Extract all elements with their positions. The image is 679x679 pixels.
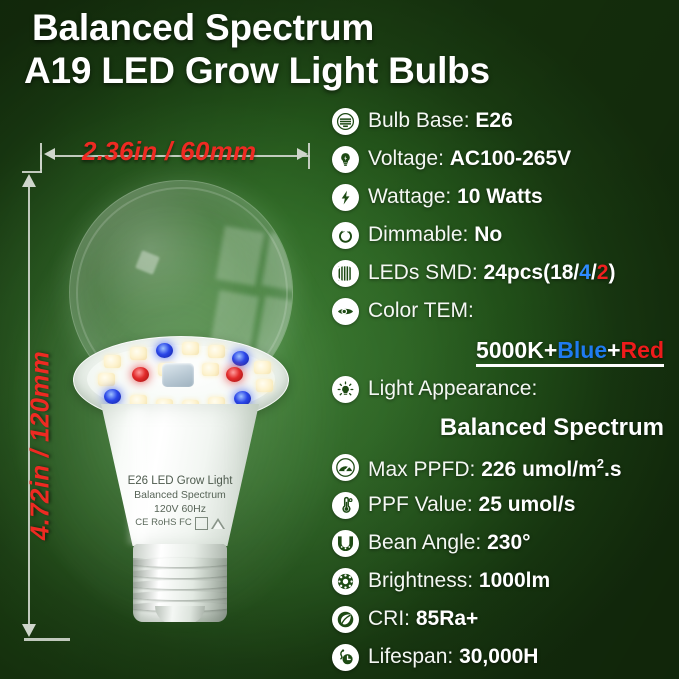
led-white	[104, 355, 121, 368]
spec-text-brightness: Brightness: 1000lm	[368, 568, 550, 594]
leds-total-prefix: 24pcs(18/	[484, 261, 580, 284]
spec-value-bean-angle: 230°	[487, 531, 530, 554]
base-thread	[133, 591, 227, 600]
spec-row-voltage: Voltage: AC100-265V	[332, 140, 676, 178]
spec-value-wattage: 10 Watts	[457, 185, 543, 208]
spec-label-light-appearance: Light Appearance:	[368, 377, 537, 400]
led-strip-icon	[332, 260, 359, 287]
spec-label-leds-smd: LEDs SMD:	[368, 261, 478, 284]
recycle-triangle-icon	[211, 518, 225, 529]
spec-text-lifespan: Lifespan: 30,000H	[368, 644, 538, 670]
page-title: Balanced Spectrum A19 LED Grow Light Bul…	[32, 6, 652, 92]
spec-label-bean-angle: Bean Angle:	[368, 531, 481, 554]
spec-value-lifespan: 30,000H	[459, 645, 538, 668]
spec-value-ppf-value: 25 umol/s	[479, 493, 576, 516]
spec-row-light-appearance: Light Appearance:	[332, 370, 676, 408]
spec-label-dimmable: Dimmable:	[368, 223, 468, 246]
led-white	[182, 342, 199, 355]
specification-list: Bulb Base: E26 Voltage: AC100-265V	[332, 102, 676, 676]
product-infographic: Balanced Spectrum A19 LED Grow Light Bul…	[0, 0, 679, 679]
bulb-base-icon	[332, 108, 359, 135]
spec-text-wattage: Wattage: 10 Watts	[368, 184, 543, 210]
led-white	[202, 363, 219, 376]
spec-row-cri: CRI: 85Ra+	[332, 600, 676, 638]
color-tem-plus-1: +	[544, 337, 557, 367]
spec-row-wattage: Wattage: 10 Watts	[332, 178, 676, 216]
wheelie-bin-icon	[195, 517, 208, 530]
spec-text-voltage: Voltage: AC100-265V	[368, 146, 571, 172]
title-line-2: A19 LED Grow Light Bulbs	[24, 49, 652, 92]
led-blue	[104, 389, 121, 404]
spec-label-cri: CRI:	[368, 607, 410, 630]
spec-value-leds-smd: 24pcs(18/4/2)	[484, 261, 616, 284]
eye-icon	[332, 298, 359, 325]
light-appearance-value-row: Balanced Spectrum	[332, 408, 676, 448]
voltage-bulb-icon	[332, 146, 359, 173]
spec-row-color-tem: Color TEM:	[332, 292, 676, 330]
width-arrow-left-icon	[44, 148, 55, 160]
spec-label-color-tem: Color TEM:	[368, 299, 474, 322]
base-thread	[133, 558, 227, 567]
gauge-icon	[332, 454, 359, 481]
height-dimension-label: 4.72in / 120mm	[25, 336, 56, 556]
base-thread	[133, 569, 227, 578]
spec-text-dimmable: Dimmable: No	[368, 222, 502, 248]
base-thread	[133, 580, 227, 589]
bulb-printed-label: E26 LED Grow Light Balanced Spectrum 120…	[103, 474, 257, 530]
led-white	[98, 373, 115, 386]
spec-row-bulb-base: Bulb Base: E26	[332, 102, 676, 140]
title-line-1: Balanced Spectrum	[32, 6, 652, 49]
spec-row-ppf-value: PPF Value: 25 umol/s	[332, 486, 676, 524]
spec-value-brightness: 1000lm	[479, 569, 550, 592]
thermometer-icon	[332, 492, 359, 519]
spec-row-brightness: Brightness: 1000lm	[332, 562, 676, 600]
led-red	[132, 367, 149, 382]
spec-row-max-ppfd: Max PPFD: 226 umol/m2.s	[332, 448, 676, 486]
spec-label-lifespan: Lifespan:	[368, 645, 453, 668]
leds-suffix: )	[608, 261, 615, 284]
spec-text-leds-smd: LEDs SMD: 24pcs(18/4/2)	[368, 260, 615, 286]
spec-label-ppf-value: PPF Value:	[368, 493, 473, 516]
spec-value-voltage: AC100-265V	[450, 147, 571, 170]
spec-value-max-ppfd: 226 umol/m2.s	[481, 458, 621, 481]
spec-text-bean-angle: Bean Angle: 230°	[368, 530, 531, 556]
spec-text-ppf-value: PPF Value: 25 umol/s	[368, 492, 575, 518]
bulb-label-line-2: Balanced Spectrum	[103, 489, 257, 503]
light-appearance-value: Balanced Spectrum	[440, 414, 664, 442]
spec-text-color-tem: Color TEM:	[368, 298, 474, 324]
certification-marks-text: CE RoHS FC	[135, 517, 191, 530]
lightning-bolt-icon	[332, 184, 359, 211]
dimmable-circle-icon	[332, 222, 359, 249]
spec-value-bulb-base: E26	[475, 109, 512, 132]
spec-row-dimmable: Dimmable: No	[332, 216, 676, 254]
height-arrow-top-icon	[22, 174, 36, 187]
color-tem-value-row: 5000K+Blue+Red	[332, 330, 676, 370]
led-center-hub	[162, 363, 194, 387]
height-guide-cap-bottom	[24, 638, 70, 641]
leaf-icon	[332, 606, 359, 633]
led-blue	[232, 351, 249, 366]
spec-text-light-appearance: Light Appearance:	[368, 376, 537, 402]
light-appearance-icon	[332, 376, 359, 403]
spec-row-bean-angle: Bean Angle: 230°	[332, 524, 676, 562]
spec-text-bulb-base: Bulb Base: E26	[368, 108, 513, 134]
led-white	[208, 345, 225, 358]
leds-blue-count: 4	[579, 261, 591, 284]
spec-value-cri: 85Ra+	[416, 607, 478, 630]
bulb-label-line-4: CE RoHS FC	[103, 517, 257, 530]
spec-label-bulb-base: Bulb Base:	[368, 109, 470, 132]
spec-label-wattage: Wattage:	[368, 185, 451, 208]
leds-red-count: 2	[597, 261, 609, 284]
bulb-label-line-1: E26 LED Grow Light	[103, 474, 257, 489]
spec-row-leds-smd: LEDs SMD: 24pcs(18/4/2)	[332, 254, 676, 292]
beam-angle-icon	[332, 530, 359, 557]
lifespan-icon	[332, 644, 359, 671]
height-arrow-bottom-icon	[22, 624, 36, 637]
led-red	[226, 367, 243, 382]
color-tem-plus-2: +	[607, 337, 620, 367]
led-white	[254, 361, 271, 374]
width-arrow-right-icon	[297, 148, 308, 160]
width-guide-corner-horizontal	[22, 171, 42, 173]
led-blue	[156, 343, 173, 358]
bulb-label-line-3: 120V 60Hz	[103, 503, 257, 517]
spec-text-cri: CRI: 85Ra+	[368, 606, 478, 632]
color-tem-kelvin: 5000K	[476, 337, 544, 367]
led-white	[256, 379, 273, 392]
spec-label-max-ppfd: Max PPFD:	[368, 458, 475, 481]
width-dimension-label: 2.36in / 60mm	[82, 136, 256, 167]
led-blue	[234, 391, 251, 406]
color-tem-value: 5000K+Blue+Red	[476, 337, 664, 364]
spec-value-dimmable: No	[474, 223, 502, 246]
brightness-sun-icon	[332, 568, 359, 595]
e26-screw-base	[133, 544, 227, 622]
spec-text-max-ppfd: Max PPFD: 226 umol/m2.s	[368, 451, 622, 483]
base-collar	[133, 544, 227, 558]
spec-label-voltage: Voltage:	[368, 147, 444, 170]
spec-label-brightness: Brightness:	[368, 569, 473, 592]
led-white	[130, 347, 147, 360]
spec-row-lifespan: Lifespan: 30,000H	[332, 638, 676, 676]
color-tem-red: Red	[621, 337, 664, 367]
color-tem-blue: Blue	[557, 337, 607, 367]
base-contact-tip	[155, 606, 205, 622]
bulb-product-image: E26 LED Grow Light Balanced Spectrum 120…	[55, 176, 305, 638]
